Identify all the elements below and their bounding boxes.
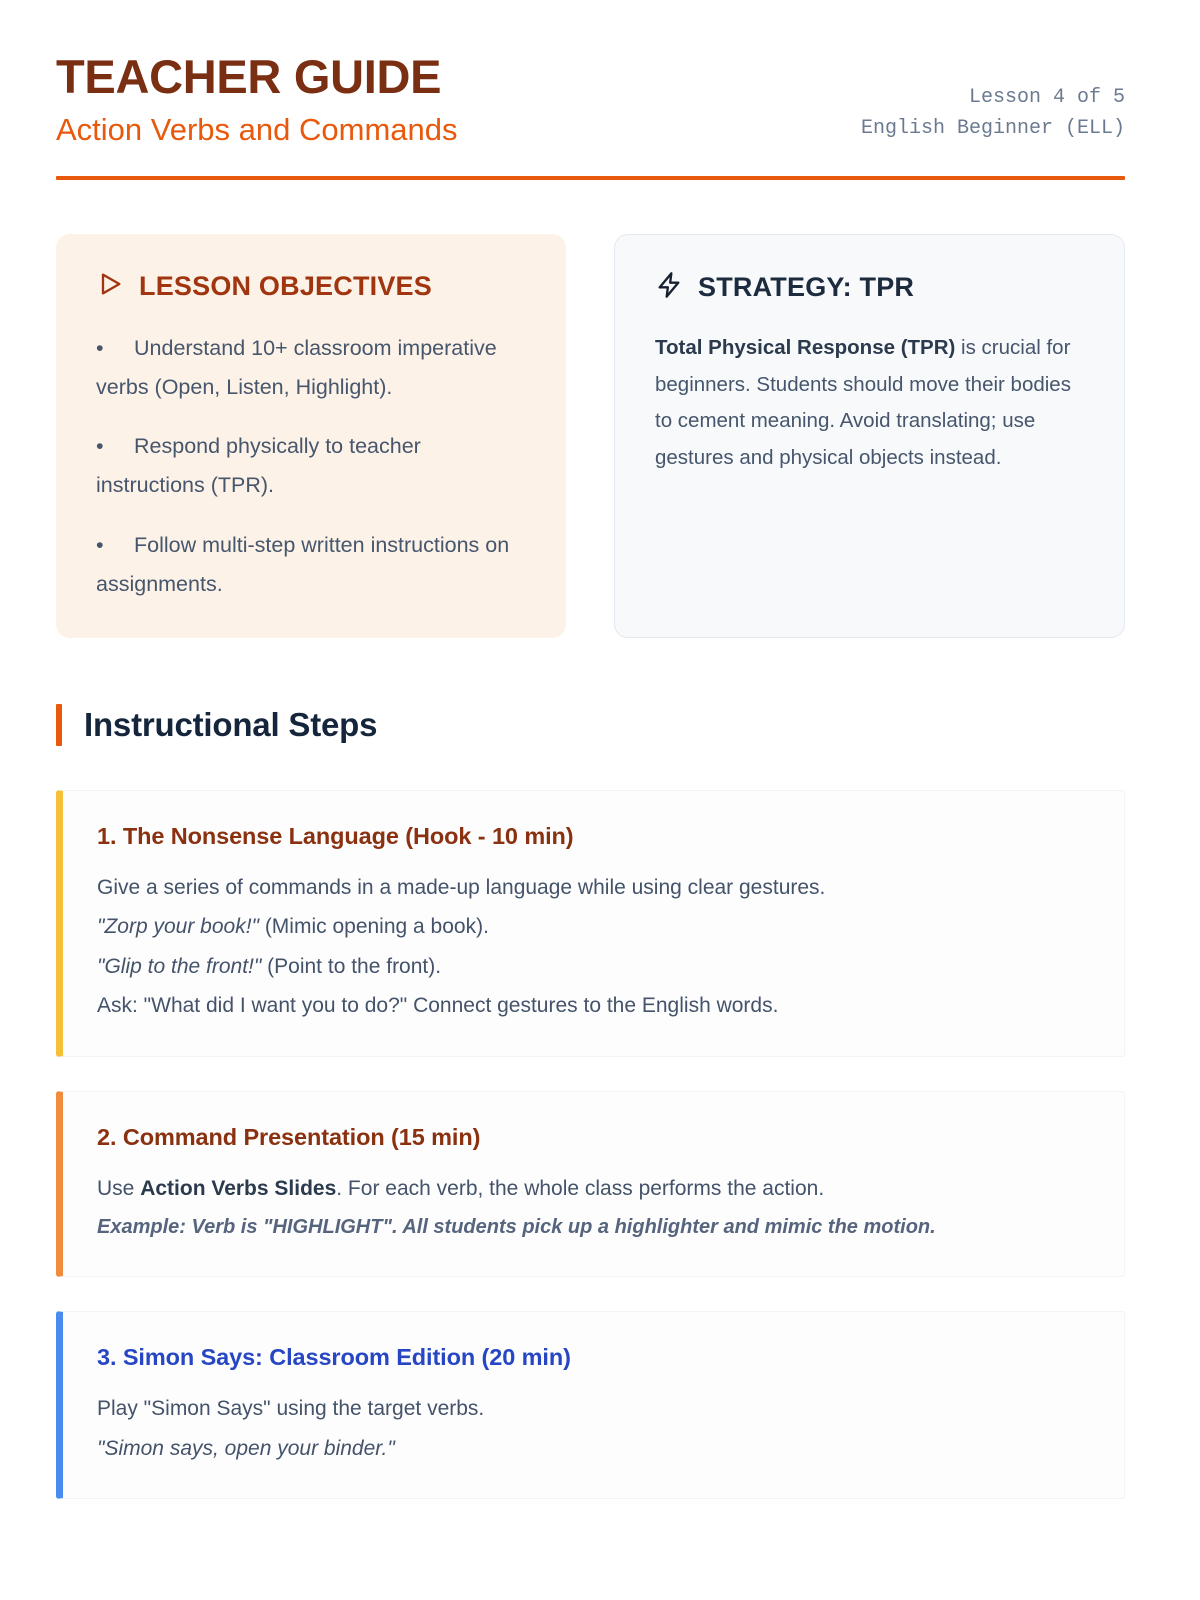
step-card: 3. Simon Says: Classroom Edition (20 min… [56, 1311, 1125, 1499]
step-line: "Glip to the front!" (Point to the front… [97, 951, 1090, 983]
step-line: Ask: "What did I want you to do?" Connec… [97, 990, 1090, 1022]
step-line: Use Action Verbs Slides. For each verb, … [97, 1173, 1090, 1205]
strategy-card-body: Total Physical Response (TPR) is crucial… [655, 330, 1088, 476]
step-quote: "Simon says, open your binder." [97, 1437, 395, 1460]
course-label: English Beginner (ELL) [861, 113, 1125, 144]
play-triangle-icon [96, 270, 124, 303]
summary-cards: LESSON OBJECTIVES •Understand 10+ classr… [56, 234, 1125, 638]
teacher-guide-page: TEACHER GUIDE Action Verbs and Commands … [0, 0, 1200, 1600]
step-quote: "Zorp your book!" [97, 915, 259, 938]
steps-list: 1. The Nonsense Language (Hook - 10 min)… [56, 790, 1125, 1500]
bullet-glyph: • [96, 526, 134, 565]
step-card: 1. The Nonsense Language (Hook - 10 min)… [56, 790, 1125, 1057]
step-line: Give a series of commands in a made-up l… [97, 872, 1090, 904]
strategy-card-header: STRATEGY: TPR [655, 271, 1088, 304]
step-gloss: (Mimic opening a book). [259, 915, 489, 938]
step-title: 2. Command Presentation (15 min) [97, 1124, 1090, 1151]
list-item: •Understand 10+ classroom imperative ver… [96, 329, 530, 407]
page-title: TEACHER GUIDE [56, 52, 861, 101]
step-prefix: Use [97, 1177, 140, 1200]
step-line: Play "Simon Says" using the target verbs… [97, 1393, 1090, 1425]
resource-name: Action Verbs Slides [140, 1177, 336, 1200]
step-title: 1. The Nonsense Language (Hook - 10 min) [97, 823, 1090, 850]
strategy-term: Total Physical Response (TPR) [655, 336, 955, 359]
step-title: 3. Simon Says: Classroom Edition (20 min… [97, 1344, 1090, 1371]
header-divider [56, 176, 1125, 180]
section-title: Instructional Steps [84, 706, 377, 744]
instructional-steps-heading: Instructional Steps [56, 704, 1125, 746]
strategy-card-title: STRATEGY: TPR [698, 272, 914, 303]
step-line: "Simon says, open your binder." [97, 1433, 1090, 1465]
step-quote: "Glip to the front!" [97, 955, 261, 978]
lesson-objectives-card: LESSON OBJECTIVES •Understand 10+ classr… [56, 234, 566, 638]
section-accent-bar [56, 704, 62, 746]
objective-text: Follow multi-step written instructions o… [96, 533, 509, 596]
step-gloss: (Point to the front). [261, 955, 441, 978]
header-meta: Lesson 4 of 5 English Beginner (ELL) [861, 82, 1125, 150]
step-line: "Zorp your book!" (Mimic opening a book)… [97, 911, 1090, 943]
list-item: •Respond physically to teacher instructi… [96, 427, 530, 505]
document-header: TEACHER GUIDE Action Verbs and Commands … [52, 52, 1125, 150]
objective-text: Respond physically to teacher instructio… [96, 434, 421, 497]
step-gloss: . For each verb, the whole class perform… [336, 1177, 824, 1200]
step-example-note: Example: Verb is "HIGHLIGHT". All studen… [97, 1212, 1090, 1242]
header-title-block: TEACHER GUIDE Action Verbs and Commands [56, 52, 861, 150]
page-subtitle: Action Verbs and Commands [56, 111, 861, 150]
lesson-counter: Lesson 4 of 5 [861, 82, 1125, 113]
step-card: 2. Command Presentation (15 min) Use Act… [56, 1091, 1125, 1278]
bullet-glyph: • [96, 329, 134, 368]
list-item: •Follow multi-step written instructions … [96, 526, 530, 604]
objectives-card-title: LESSON OBJECTIVES [139, 271, 432, 302]
objectives-list: •Understand 10+ classroom imperative ver… [96, 329, 530, 604]
objectives-card-header: LESSON OBJECTIVES [96, 270, 530, 303]
objective-text: Understand 10+ classroom imperative verb… [96, 336, 497, 399]
lightning-bolt-icon [655, 271, 683, 304]
bullet-glyph: • [96, 427, 134, 466]
strategy-card: STRATEGY: TPR Total Physical Response (T… [614, 234, 1125, 638]
